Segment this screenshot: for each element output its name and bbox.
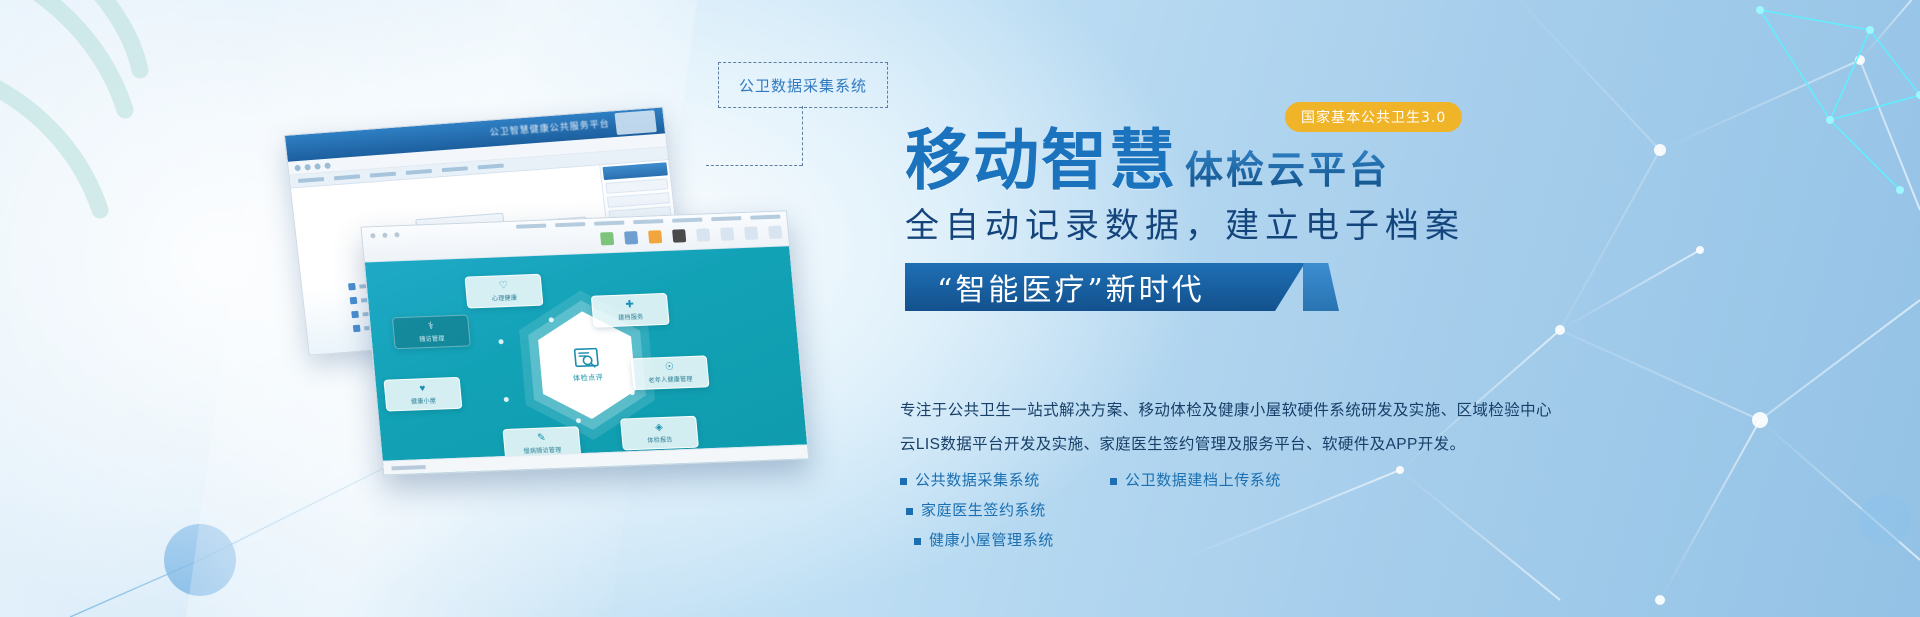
dashboard-node: ◈ 体检报告 (620, 416, 699, 451)
window-controls (370, 232, 399, 238)
front-dashboard-canvas: 体检点评 ♡ 心理健康 ✚ 建档服务 ⚕ 随访管理 ☉ 老年人健康管理 (365, 246, 809, 475)
minimize-icon (382, 233, 387, 238)
circle-icon (696, 228, 710, 241)
connector-dot (498, 339, 503, 344)
dashboard-node: ☉ 老年人健康管理 (631, 355, 710, 390)
maximize-icon (394, 232, 399, 237)
monitor-icon (624, 231, 638, 244)
menu-item (370, 172, 396, 178)
tab-item (750, 215, 780, 220)
square-bullet-icon (906, 508, 913, 515)
toolbar-dot-icon (314, 163, 321, 169)
status-badge: 国家基本公共卫生3.0 (1285, 102, 1462, 132)
node-icon: ☉ (665, 362, 675, 372)
tab-item (594, 221, 624, 226)
callout-leader-horizontal (706, 165, 802, 166)
connector-dot (549, 317, 554, 322)
report-icon (768, 226, 782, 239)
toolbar-dot-icon (294, 164, 301, 170)
flask-icon (600, 232, 614, 245)
toolbar-dot-icon (324, 162, 331, 168)
tab-item (711, 216, 741, 221)
node-icon: ♥ (419, 384, 426, 394)
node-label: 体检报告 (647, 434, 673, 444)
headline-line-2: 全自动记录数据，建立电子档案 (905, 198, 1665, 247)
list-bullet-icon (351, 311, 359, 318)
screenshot-front-exam-cloud-dashboard: 体检点评 ♡ 心理健康 ✚ 建档服务 ⚕ 随访管理 ☉ 老年人健康管理 (361, 210, 810, 475)
device-mockups: 公卫智慧健康公共服务平台 (280, 120, 840, 480)
dashboard-node: ♡ 心理健康 (464, 274, 543, 309)
callout-label: 公卫数据采集系统 (739, 75, 867, 96)
connector-dot (504, 397, 509, 402)
description-line-2: 云LIS数据平台开发及实施、家庭医生签约管理及服务平台、软硬件及APP开发。 (900, 434, 1620, 456)
tab-item (633, 219, 663, 224)
list-item: 健康小屋管理系统 (900, 528, 1124, 554)
statusbar-text (391, 465, 425, 470)
dashboard-node: ⚕ 随访管理 (392, 315, 471, 350)
menu-item (406, 169, 432, 175)
menu-item (298, 177, 324, 183)
node-label: 健康小屋 (410, 395, 436, 405)
slogan-text: “智能医疗”新时代 (937, 265, 1205, 309)
list-item: 家庭医生签约系统 (900, 498, 1116, 524)
node-icon: ◈ (655, 422, 664, 432)
dna-helix-icon (0, 0, 220, 330)
tab-item (672, 218, 702, 223)
callout-box: 公卫数据采集系统 (718, 62, 888, 108)
description-line-1: 专注于公共卫生一站式解决方案、移动体检及健康小屋软硬件系统研发及实施、区域检验中… (900, 400, 1620, 422)
connector-dot (629, 390, 634, 395)
node-icon: ⚕ (428, 321, 434, 331)
menu-item (334, 174, 360, 180)
node-label: 建档服务 (618, 311, 644, 321)
node-label: 心理健康 (491, 292, 517, 302)
node-icon: ✎ (537, 433, 546, 443)
ribbon-tail (1303, 263, 1339, 311)
list-item-label: 家庭医生签约系统 (921, 498, 1046, 524)
report-search-icon (572, 347, 600, 370)
list-bullet-icon (350, 297, 358, 304)
back-window-title: 公卫智慧健康公共服务平台 (489, 117, 610, 139)
dashboard-node: ✚ 建档服务 (591, 293, 670, 328)
slogan-ribbon: “智能医疗”新时代 (905, 263, 1305, 311)
square-bullet-icon (900, 478, 907, 485)
toolbar-dot-icon (304, 164, 311, 170)
menu-item (478, 164, 504, 170)
description-block: 专注于公共卫生一站式解决方案、移动体检及健康小屋软硬件系统研发及实施、区域检验中… (900, 400, 1620, 554)
list-bullet-icon (348, 283, 356, 290)
close-icon (370, 233, 375, 238)
user-icon (744, 226, 758, 239)
dashboard-node: ♥ 健康小屋 (383, 377, 462, 412)
list-item-label: 公卫数据建档上传系统 (1125, 468, 1281, 494)
tab-item (555, 222, 585, 227)
square-bullet-icon (1110, 478, 1117, 485)
callout-leader-vertical (802, 106, 803, 166)
feature-list: 公共数据采集系统 公卫数据建档上传系统 家庭医生签约系统 健康小屋管理系统 (900, 468, 1320, 554)
node-label: 老年人健康管理 (648, 373, 693, 384)
grid-icon (720, 227, 734, 240)
connector-dot (610, 335, 615, 340)
headline-secondary: 体检云平台 (1185, 150, 1390, 194)
connector-dot (576, 418, 581, 423)
sidebar-item (605, 178, 668, 194)
banner-stage: 公卫智慧健康公共服务平台 (0, 0, 1920, 617)
node-label: 随访管理 (419, 333, 445, 343)
square-bullet-icon (914, 538, 921, 545)
sidebar-item (607, 192, 670, 208)
node-icon: ♡ (499, 281, 509, 291)
node-icon: ✚ (625, 300, 634, 310)
list-bullet-icon (353, 325, 361, 332)
headline-line-1: 移动智慧 体检云平台 国家基本公共卫生3.0 (905, 128, 1665, 194)
headline-primary: 移动智慧 (905, 128, 1177, 194)
tab-item (516, 224, 546, 229)
back-window-avatar (614, 110, 656, 135)
front-toolbar-icons (600, 226, 782, 246)
headline-block: 移动智慧 体检云平台 国家基本公共卫生3.0 全自动记录数据，建立电子档案 “智… (905, 128, 1665, 311)
device-icon (672, 229, 686, 242)
menu-item (442, 166, 468, 172)
list-item-label: 健康小屋管理系统 (929, 528, 1054, 554)
sidebar-header (603, 162, 668, 180)
list-item: 公卫数据建档上传系统 (1110, 468, 1320, 494)
front-statusbar (383, 444, 809, 475)
hexagon-label: 体检点评 (573, 373, 604, 384)
folder-icon (648, 230, 662, 243)
list-item: 公共数据采集系统 (900, 468, 1110, 494)
list-item-label: 公共数据采集系统 (915, 468, 1040, 494)
